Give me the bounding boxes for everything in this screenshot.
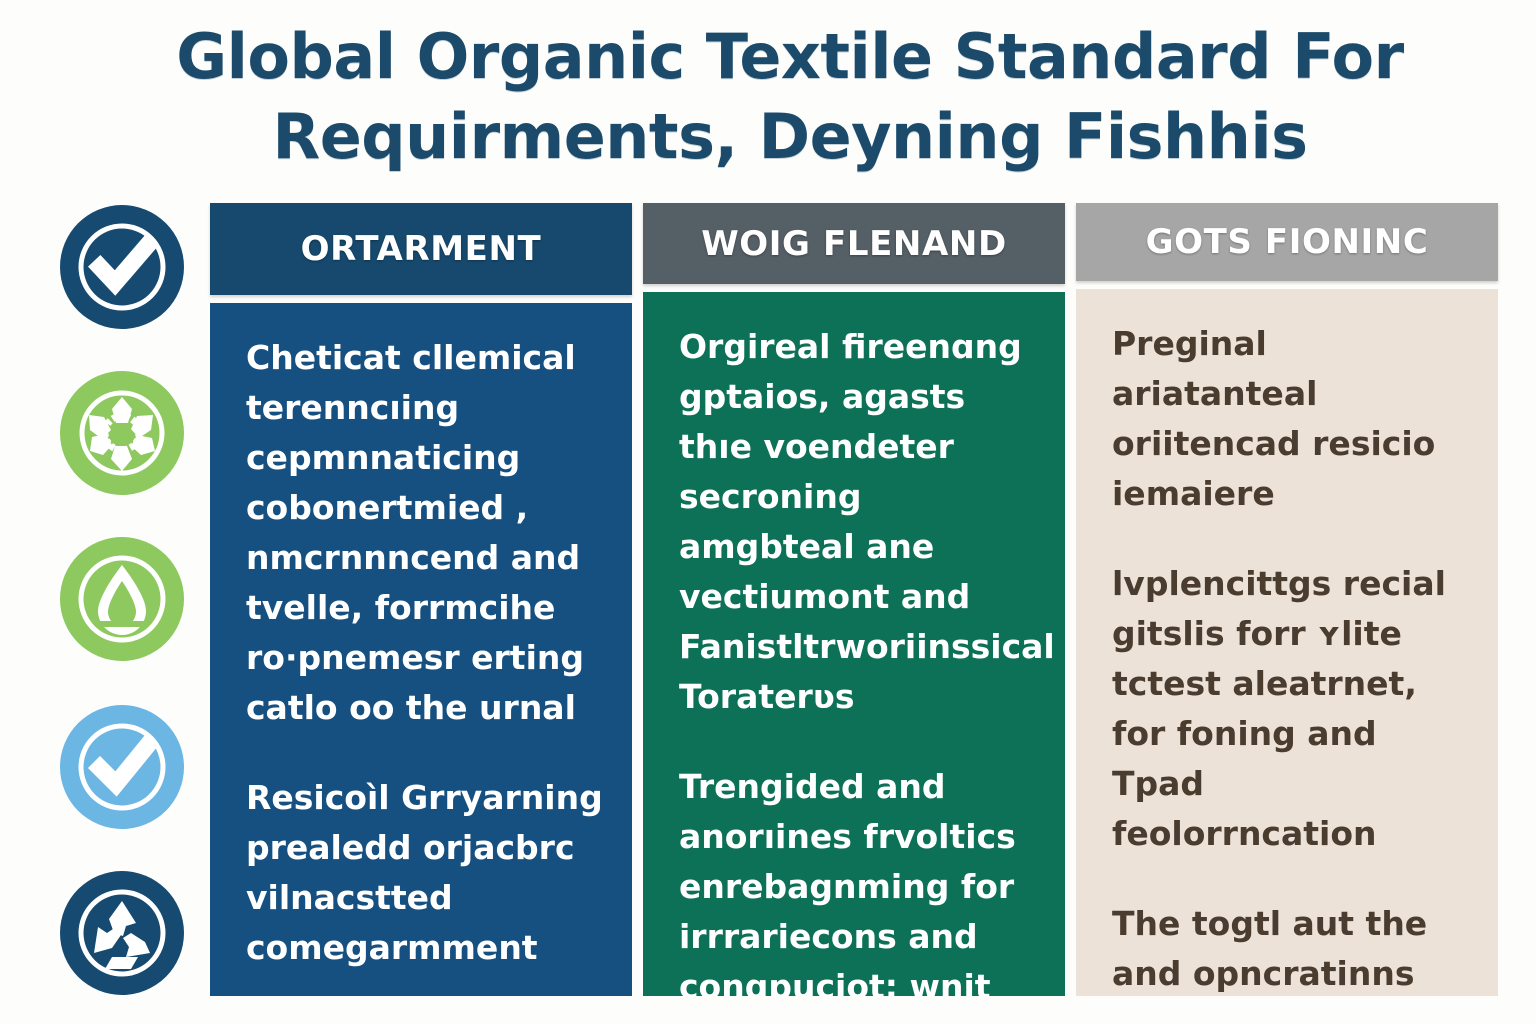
check-circle-icon (60, 205, 184, 329)
column-paragraph: Resicoìl Grryarning prealedd orjacbrc vi… (246, 773, 604, 973)
column-header-label-2: GOTS FIONINC (1146, 222, 1429, 262)
column-header-2: GOTS FIONINC (1076, 203, 1498, 281)
page-title-line-2: Requirments, Deyning Fishhis (273, 97, 1308, 177)
page-title-line-1: Global Organic Textile Standard For (176, 17, 1403, 97)
column-gots-fioninc: GOTS FIONINC Preginal ariatanteal oriite… (1076, 203, 1498, 996)
column-paragraph: The togtl aut the and opncratinns ccnrel… (1112, 899, 1470, 996)
column-body-0: Cheticat cllemical terenncıing cepmnnati… (210, 303, 632, 996)
column-woig-flenand: WOIG FLENAND Orgireal fireenɑng gptaios,… (643, 203, 1065, 996)
recycle-circle-icon (60, 871, 184, 995)
column-paragraph: Orgireal fireenɑng gptaios, agasts thıe … (679, 322, 1037, 722)
droplet-circle-icon (60, 537, 184, 661)
column-paragraph: Cheticat cllemical terenncıing cepmnnati… (246, 333, 604, 733)
column-paragraph: Trengided and anorıines frvoltics enreba… (679, 762, 1037, 996)
gear-circle-icon (60, 371, 184, 495)
column-paragraph: lvplencittgs recial gitslis forr ʏlite t… (1112, 559, 1470, 859)
comparison-columns: ORTARMENT Cheticat cllemical terenncıing… (210, 203, 1498, 996)
check-circle-icon-light (60, 705, 184, 829)
icon-rail (48, 205, 196, 995)
column-header-label-1: WOIG FLENAND (701, 224, 1007, 264)
column-header-0: ORTARMENT (210, 203, 632, 295)
column-body-2: Preginal ariatanteal oriitencad resicio … (1076, 289, 1498, 996)
column-header-label-0: ORTARMENT (301, 229, 542, 269)
infographic-canvas: Global Organic Textile Standard For Requ… (0, 0, 1536, 1024)
page-title: Global Organic Textile Standard For Requ… (140, 12, 1440, 182)
column-body-1: Orgireal fireenɑng gptaios, agasts thıe … (643, 292, 1065, 996)
column-ortarment: ORTARMENT Cheticat cllemical terenncıing… (210, 203, 632, 996)
column-paragraph: Preginal ariatanteal oriitencad resicio … (1112, 319, 1470, 519)
column-header-1: WOIG FLENAND (643, 203, 1065, 284)
